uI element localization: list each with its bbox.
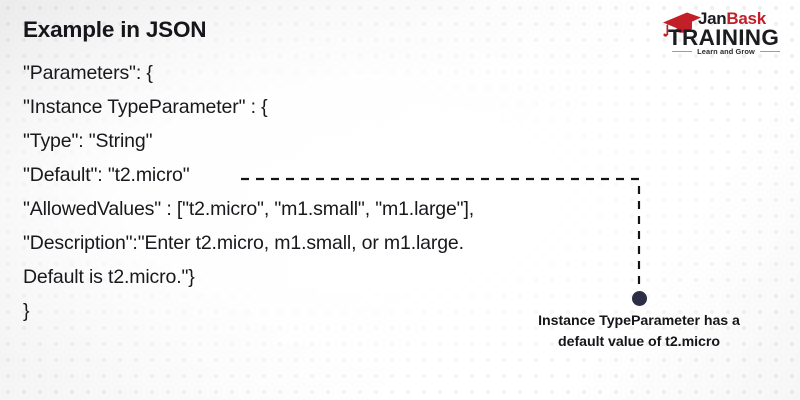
callout-annotation-line-1: Instance TypeParameter has a bbox=[469, 311, 800, 332]
janbask-training-logo: JanBask TRAINING Learn and Grow bbox=[662, 9, 786, 57]
json-code-block: "Parameters": { "Instance TypeParameter"… bbox=[23, 56, 663, 328]
callout-marker-dot bbox=[632, 291, 647, 306]
json-line: "AllowedValues" : ["t2.micro", "m1.small… bbox=[23, 192, 663, 226]
json-line: "Default": "t2.micro" bbox=[23, 158, 663, 192]
json-line: Default is t2.micro."} bbox=[23, 260, 663, 294]
logo-tagline-group: Learn and Grow bbox=[672, 47, 780, 56]
slide-canvas: Example in JSON "Parameters": { "Instanc… bbox=[0, 0, 800, 400]
callout-annotation: Instance TypeParameter has a default val… bbox=[469, 311, 800, 353]
json-line: "Parameters": { bbox=[23, 56, 663, 90]
json-line: "Description":"Enter t2.micro, m1.small,… bbox=[23, 226, 663, 260]
tagline-rule-left bbox=[672, 51, 692, 52]
page-title: Example in JSON bbox=[23, 17, 206, 43]
callout-annotation-line-2: default value of t2.micro bbox=[469, 332, 800, 353]
tagline-rule-right bbox=[760, 51, 780, 52]
logo-tagline: Learn and Grow bbox=[697, 47, 755, 56]
json-line: "Instance TypeParameter" : { bbox=[23, 90, 663, 124]
json-line: "Type": "String" bbox=[23, 124, 663, 158]
